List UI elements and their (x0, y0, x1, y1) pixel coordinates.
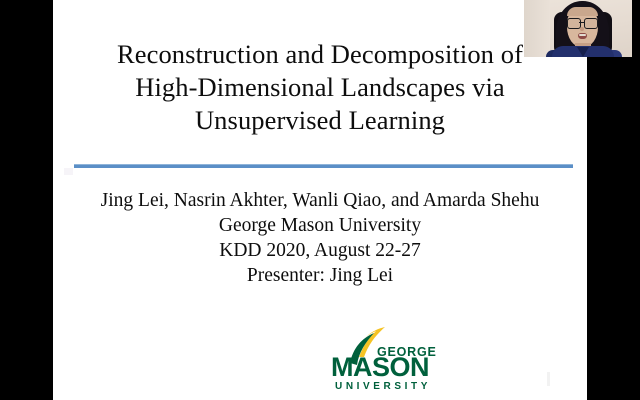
slide-page-marker (547, 372, 550, 386)
presenter-forehead (567, 7, 598, 16)
eyeglasses-bridge (579, 22, 584, 23)
webcam-wall-shadow (524, 0, 550, 57)
letterbox-left (0, 0, 53, 400)
title-divider-rule (74, 164, 573, 168)
presenter-line: Presenter: Jing Lei (53, 263, 587, 288)
presentation-slide: Reconstruction and Decomposition of High… (53, 0, 587, 400)
svg-text:UNIVERSITY: UNIVERSITY (335, 381, 431, 391)
george-mason-university-logo: MASON GEORGE UNIVERSITY (319, 327, 441, 391)
eyeglasses-left-lens (567, 18, 581, 29)
video-player-frame: Reconstruction and Decomposition of High… (0, 0, 640, 400)
slide-edge-artifact (64, 168, 73, 175)
slide-title: Reconstruction and Decomposition of High… (53, 38, 587, 137)
title-line-1: Reconstruction and Decomposition of (53, 38, 587, 71)
affiliation-line: George Mason University (53, 213, 587, 238)
eyeglasses-right-lens (584, 18, 598, 29)
presenter-webcam-overlay[interactable] (524, 0, 632, 57)
svg-text:GEORGE: GEORGE (377, 345, 437, 359)
title-line-3: Unsupervised Learning (53, 104, 587, 137)
letterbox-right (587, 0, 640, 400)
presenter-teeth (579, 34, 586, 36)
presenter-nose (580, 27, 584, 31)
title-line-2: High-Dimensional Landscapes via (53, 71, 587, 104)
slide-authors-block: Jing Lei, Nasrin Akhter, Wanli Qiao, and… (53, 188, 587, 288)
authors-line: Jing Lei, Nasrin Akhter, Wanli Qiao, and… (53, 188, 587, 213)
conference-line: KDD 2020, August 22-27 (53, 238, 587, 263)
